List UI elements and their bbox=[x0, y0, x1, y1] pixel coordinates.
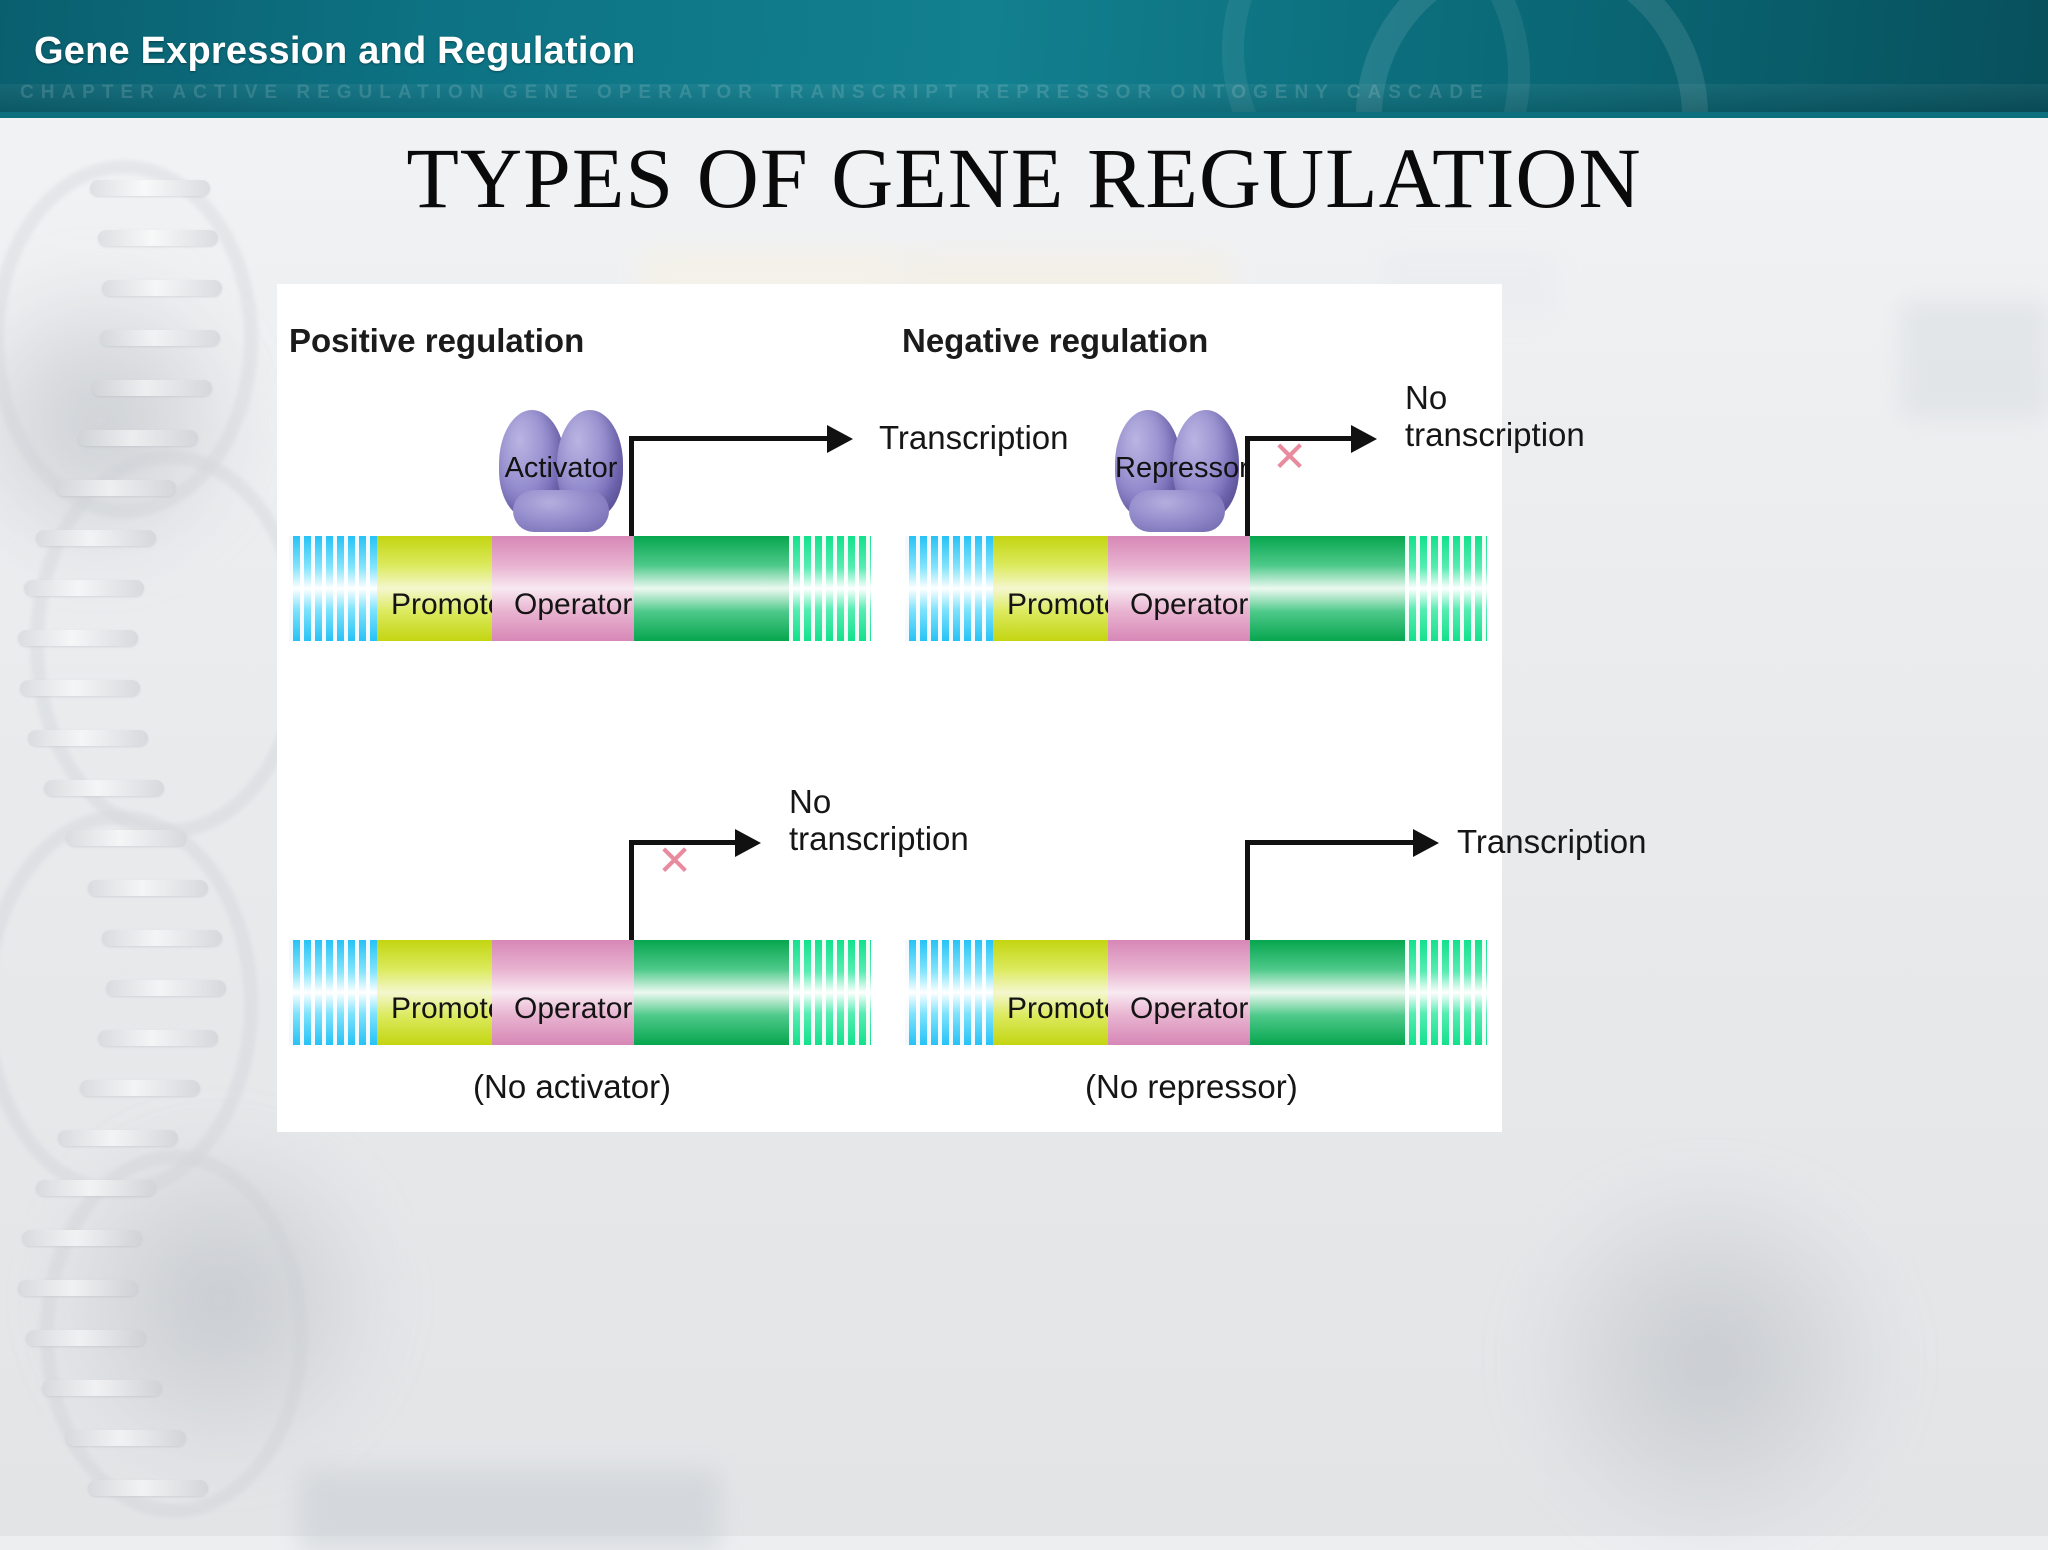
dna-left-cap bbox=[905, 536, 993, 641]
outcome-line-1: No bbox=[789, 784, 969, 821]
repressor-protein: Repressor bbox=[1115, 410, 1239, 530]
dna-left-cap bbox=[289, 536, 377, 641]
transcription-outcome-label: Transcription bbox=[1457, 824, 1647, 861]
slide-header-banner: CHAPTER ACTIVE REGULATION GENE OPERATOR … bbox=[0, 0, 2048, 118]
operator-segment: Operator bbox=[1108, 536, 1250, 641]
operator-label: Operator bbox=[492, 588, 634, 622]
dna-strand: Promoter Operator bbox=[289, 536, 871, 641]
protein-foot bbox=[1129, 490, 1225, 532]
image-remnant bbox=[1900, 300, 2048, 420]
background-blot bbox=[1500, 1180, 1920, 1540]
dna-left-cap bbox=[289, 940, 377, 1045]
blocked-x-icon: ✕ bbox=[657, 840, 692, 882]
image-remnant bbox=[300, 1470, 720, 1550]
header-ghost-text: CHAPTER ACTIVE REGULATION GENE OPERATOR … bbox=[20, 82, 2048, 108]
no-transcription-outcome-label: No transcription bbox=[789, 784, 969, 858]
gene-segment bbox=[1250, 536, 1405, 641]
negative-regulation-heading: Negative regulation bbox=[902, 322, 1208, 360]
blocked-x-icon: ✕ bbox=[1272, 436, 1307, 478]
transcription-arrow bbox=[1245, 840, 1485, 948]
blocked-transcription-arrow bbox=[629, 840, 779, 948]
page-title: TYPES OF GENE REGULATION bbox=[0, 128, 2048, 228]
operator-segment: Operator bbox=[1108, 940, 1250, 1045]
promoter-segment: Promoter bbox=[993, 940, 1108, 1045]
no-activator-caption: (No activator) bbox=[473, 1068, 671, 1106]
dna-strand: Promoter Operator bbox=[905, 940, 1487, 1045]
dna-right-cap bbox=[789, 536, 871, 641]
header-divider bbox=[0, 112, 2048, 118]
dna-strand: Promoter Operator bbox=[289, 940, 871, 1045]
promoter-label: Promoter bbox=[993, 588, 1108, 622]
promoter-segment: Promoter bbox=[377, 536, 492, 641]
dna-right-cap bbox=[1405, 940, 1487, 1045]
promoter-label: Promoter bbox=[377, 588, 492, 622]
promoter-label: Promoter bbox=[993, 992, 1108, 1026]
dna-right-cap bbox=[1405, 536, 1487, 641]
outcome-line-2: transcription bbox=[789, 821, 969, 858]
no-transcription-outcome-label: No transcription bbox=[1405, 380, 1585, 454]
blocked-transcription-arrow bbox=[1245, 436, 1395, 544]
dna-left-cap bbox=[905, 940, 993, 1045]
activator-protein: Activator bbox=[499, 410, 623, 530]
dna-right-cap bbox=[789, 940, 871, 1045]
gene-segment bbox=[634, 536, 789, 641]
promoter-label: Promoter bbox=[377, 992, 492, 1026]
activator-label: Activator bbox=[499, 452, 623, 485]
transcription-outcome-label: Transcription bbox=[879, 420, 1069, 457]
positive-regulation-heading: Positive regulation bbox=[289, 322, 584, 360]
gene-segment bbox=[634, 940, 789, 1045]
operator-segment: Operator bbox=[492, 536, 634, 641]
header-title: Gene Expression and Regulation bbox=[34, 30, 635, 73]
no-repressor-caption: (No repressor) bbox=[1085, 1068, 1298, 1106]
operator-label: Operator bbox=[1108, 992, 1250, 1026]
operator-label: Operator bbox=[492, 992, 634, 1026]
protein-foot bbox=[513, 490, 609, 532]
outcome-line-2: transcription bbox=[1405, 417, 1585, 454]
outcome-line-1: No bbox=[1405, 380, 1585, 417]
operator-segment: Operator bbox=[492, 940, 634, 1045]
operator-label: Operator bbox=[1108, 588, 1250, 622]
promoter-segment: Promoter bbox=[377, 940, 492, 1045]
dna-strand: Promoter Operator bbox=[905, 536, 1487, 641]
slide-canvas: CHAPTER ACTIVE REGULATION GENE OPERATOR … bbox=[0, 0, 2048, 1536]
transcription-arrow bbox=[629, 436, 869, 544]
repressor-label: Repressor bbox=[1115, 452, 1239, 485]
promoter-segment: Promoter bbox=[993, 536, 1108, 641]
gene-regulation-figure: Positive regulation Activator Transcript… bbox=[277, 284, 1502, 1132]
gene-segment bbox=[1250, 940, 1405, 1045]
